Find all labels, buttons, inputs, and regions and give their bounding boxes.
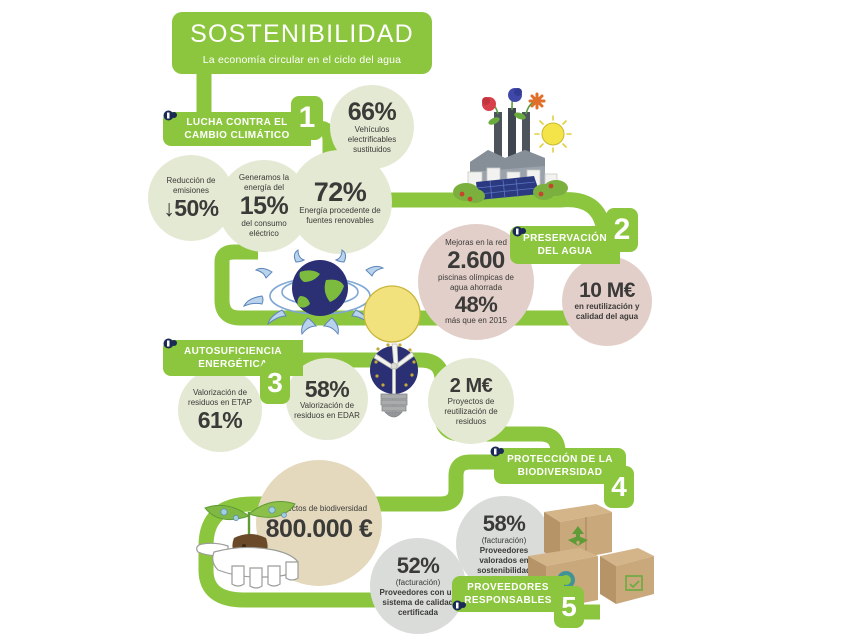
title-heading: SOSTENIBILIDAD [190, 20, 414, 49]
section-number-2: 2 [606, 208, 638, 252]
page-title: SOSTENIBILIDAD La economía circular en e… [172, 12, 432, 74]
section-1-label-line2: CAMBIO CLIMÁTICO [184, 130, 289, 141]
illustrations-layer [0, 0, 854, 640]
section-5-badge-icon [452, 598, 467, 609]
section-1-label-line1: LUCHA CONTRA EL [186, 117, 287, 128]
infographic-canvas: SOSTENIBILIDAD La economía circular en e… [0, 0, 854, 640]
hand-seedling-illustration [197, 502, 298, 588]
hand-icon [197, 543, 298, 588]
section-2-badge-icon [512, 224, 527, 235]
title-subheading: La economía circular en el ciclo del agu… [203, 54, 401, 66]
section-number-5: 5 [554, 586, 584, 628]
section-banner-1[interactable]: LUCHA CONTRA EL CAMBIO CLIMÁTICO [163, 112, 311, 146]
section-4-label-line1: PROTECCIÓN DE LA [507, 454, 613, 465]
section-4-badge-icon [490, 444, 505, 455]
box-right [600, 548, 654, 604]
lightbulb-wind-turbine-illustration [364, 286, 420, 417]
section-2-label-line1: PRESERVACIÓN [523, 233, 607, 244]
section-number-1: 1 [291, 96, 323, 140]
section-4-label-line2: BIODIVERSIDAD [518, 467, 603, 478]
section-number-4: 4 [604, 466, 634, 508]
section-5-label-line1: PROVEEDORES [467, 582, 549, 593]
section-5-label-line2: RESPONSABLES [464, 595, 552, 606]
sun-icon [535, 116, 571, 152]
section-3-label-line1: AUTOSUFICIENCIA [184, 346, 282, 357]
section-1-badge-icon [163, 108, 178, 119]
factory-flowers-solar-sun-illustration [453, 88, 571, 203]
section-2-label-line2: DEL AGUA [538, 246, 593, 257]
section-number-3: 3 [260, 362, 290, 404]
section-3-label-line2: ENERGÉTICA [198, 359, 268, 370]
section-3-badge-icon [163, 336, 178, 347]
section-banner-5[interactable]: PROVEEDORES RESPONSABLES [452, 576, 564, 612]
